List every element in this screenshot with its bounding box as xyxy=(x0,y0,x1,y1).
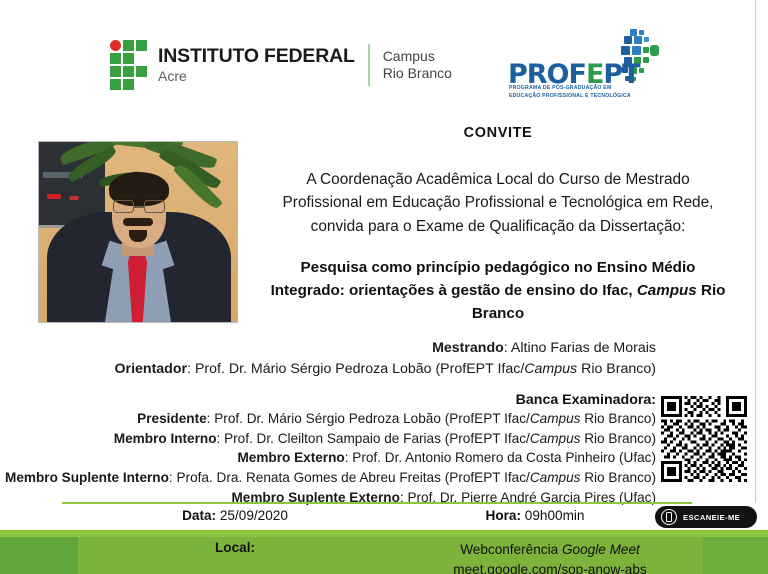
time-value: 09h00min xyxy=(521,508,584,523)
campus-block: Campus Rio Branco xyxy=(383,48,452,83)
profept-logo: PROFEPT PROGRAMA DE PÓS-GRADUAÇÃO EM EDU… xyxy=(500,29,658,101)
header-divider xyxy=(368,44,370,86)
time-label: Hora: xyxy=(486,508,522,523)
institute-name: INSTITUTO FEDERAL xyxy=(158,47,355,67)
candidate-photo xyxy=(38,141,238,323)
banca-name: Prof. Dr. Mário Sérgio Pedroza Lobão (Pr… xyxy=(214,411,530,426)
banca-role: Membro Externo xyxy=(237,450,344,465)
platform-prefix: Webconferência xyxy=(460,542,562,557)
banca-campus: Campus xyxy=(530,470,581,485)
time-cell: Hora: 09h00min xyxy=(390,508,680,523)
if-logo-grid-icon xyxy=(110,40,150,90)
banca-name: Prof. Dr. Antonio Romero da Costa Pinhei… xyxy=(352,450,656,465)
invitation-poster: INSTITUTO FEDERAL Acre Campus Rio Branco xyxy=(0,0,768,574)
banca-tail: Rio Branco) xyxy=(580,431,656,446)
banca-row: Membro Externo: Prof. Dr. Antonio Romero… xyxy=(4,448,656,468)
mestrando-name: Altino Farias de Morais xyxy=(511,340,656,356)
campus-name: Rio Branco xyxy=(383,65,452,83)
header-logos: INSTITUTO FEDERAL Acre Campus Rio Branco xyxy=(0,26,768,104)
banca-role: Membro Interno xyxy=(114,431,217,446)
title-line2-campus: Campus xyxy=(637,282,697,299)
footer-top-strip xyxy=(0,530,768,537)
orientador-label: Orientador xyxy=(115,361,188,377)
banca-row: Presidente: Prof. Dr. Mário Sérgio Pedro… xyxy=(4,409,656,429)
profept-tagline: PROGRAMA DE PÓS-GRADUAÇÃO EM EDUCAÇÃO PR… xyxy=(509,85,631,101)
dissertation-title: Pesquisa como princípio pedagógico no En… xyxy=(238,256,758,325)
orientador-row: Orientador: Prof. Dr. Mário Sérgio Pedro… xyxy=(20,359,656,380)
page-title: CONVITE xyxy=(248,125,748,141)
banca-name: Profa. Dra. Renata Gomes de Abreu Freita… xyxy=(176,470,529,485)
intro-line-1: A Coordenação Acadêmica Local do Curso d… xyxy=(238,168,758,191)
mestrando-label: Mestrando xyxy=(432,340,504,356)
phone-scan-icon xyxy=(661,509,677,525)
date-label: Data: xyxy=(182,508,216,523)
banca-name: Prof. Dr. Cleilton Sampaio de Farias (Pr… xyxy=(224,431,530,446)
people-block: Mestrando: Altino Farias de Morais Orien… xyxy=(20,338,656,379)
orientador-tail: Rio Branco) xyxy=(577,361,656,377)
scan-me-label: ESCANEIE-ME xyxy=(683,513,740,522)
banca-campus: Campus xyxy=(530,431,581,446)
invitation-intro: A Coordenação Acadêmica Local do Curso d… xyxy=(238,168,758,238)
intro-line-2: Profissional em Educação Profissional e … xyxy=(238,191,758,214)
platform-name: Google Meet xyxy=(562,542,640,557)
footer-bar: Local: Webconferência Google Meet meet.g… xyxy=(0,530,768,574)
scan-me-badge[interactable]: ESCANEIE-ME xyxy=(654,505,758,529)
mestrando-row: Mestrando: Altino Farias de Morais xyxy=(20,338,656,359)
banca-role: Presidente xyxy=(137,411,207,426)
banca-row: Membro Suplente Externo: Prof. Dr. Pierr… xyxy=(4,488,656,508)
banca-role: Membro Suplente Interno xyxy=(5,470,169,485)
platform-line: Webconferência Google Meet xyxy=(400,540,700,560)
banca-sep: : xyxy=(217,431,225,446)
qr-code-icon[interactable] xyxy=(661,396,747,482)
campus-label: Campus xyxy=(383,48,452,66)
title-line2-part-a: Integrado: orientações à gestão de ensin… xyxy=(271,282,637,299)
dissertation-title-line-3: Branco xyxy=(238,302,758,325)
meeting-url[interactable]: meet.google.com/sop-anow-abs xyxy=(400,560,700,574)
instituto-federal-logo: INSTITUTO FEDERAL Acre xyxy=(110,40,355,90)
profept-tagline-line1: PROGRAMA DE PÓS-GRADUAÇÃO EM xyxy=(509,85,631,93)
local-label: Local: xyxy=(120,540,350,555)
orientador-campus: Campus xyxy=(524,361,577,377)
banca-heading: Banca Examinadora: xyxy=(20,392,656,408)
green-divider xyxy=(62,502,692,504)
banca-tail: Rio Branco) xyxy=(580,470,656,485)
title-line2-part-b: Rio xyxy=(697,282,726,299)
date-cell: Data: 25/09/2020 xyxy=(90,508,380,523)
schedule-row: Data: 25/09/2020 Hora: 09h00min xyxy=(0,508,768,530)
date-value: 25/09/2020 xyxy=(216,508,288,523)
banca-tail: Rio Branco) xyxy=(580,411,656,426)
orientador-name: Prof. Dr. Mário Sérgio Pedroza Lobão (Pr… xyxy=(195,361,524,377)
mestrando-separator: : xyxy=(504,340,511,356)
banca-row: Membro Suplente Interno: Profa. Dra. Ren… xyxy=(4,468,656,488)
location-details: Webconferência Google Meet meet.google.c… xyxy=(400,540,700,574)
orientador-separator: : xyxy=(187,361,195,377)
dissertation-title-line-1: Pesquisa como princípio pedagógico no En… xyxy=(238,256,758,279)
intro-line-3: convida para o Exame de Qualificação da … xyxy=(238,215,758,238)
banca-row: Membro Interno: Prof. Dr. Cleilton Sampa… xyxy=(4,429,656,449)
dissertation-title-line-2: Integrado: orientações à gestão de ensin… xyxy=(238,279,758,302)
footer-right-pad xyxy=(703,537,768,574)
banca-campus: Campus xyxy=(530,411,581,426)
banca-list: Presidente: Prof. Dr. Mário Sérgio Pedro… xyxy=(4,409,656,508)
institute-unit: Acre xyxy=(158,69,355,83)
footer-left-pad xyxy=(0,537,78,574)
profept-tagline-line2: EDUCAÇÃO PROFISSIONAL E TECNOLÓGICA xyxy=(509,93,631,101)
